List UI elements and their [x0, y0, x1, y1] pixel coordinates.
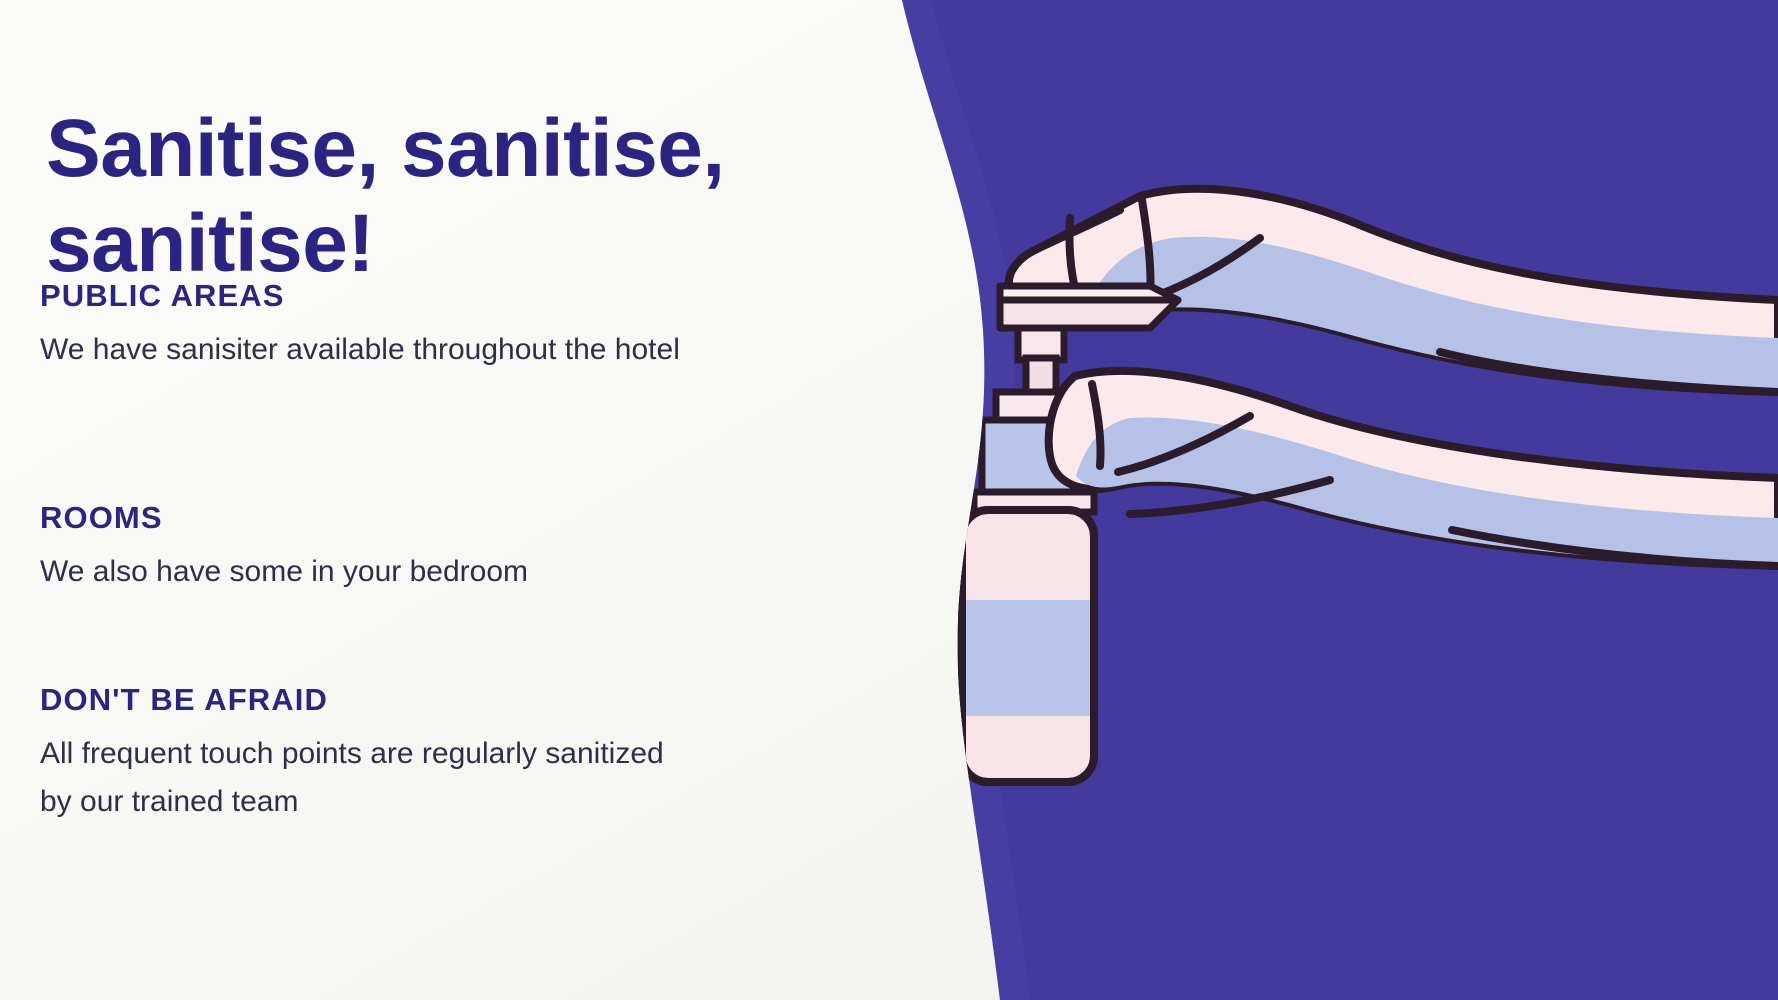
- section-title-rooms: ROOMS: [40, 500, 740, 536]
- purple-curved-panel: [902, 0, 1778, 1000]
- section-body-public-areas: We have sanisiter available throughout t…: [40, 326, 700, 374]
- section-rooms: ROOMS We also have some in your bedroom: [40, 500, 740, 596]
- text-column: Sanitise, sanitise, sanitise! PUBLIC ARE…: [0, 0, 900, 1000]
- section-body-dont-be-afraid: All frequent touch points are regularly …: [40, 730, 700, 826]
- section-dont-be-afraid: DON'T BE AFRAID All frequent touch point…: [40, 682, 740, 826]
- bottle-body: [962, 510, 1094, 782]
- section-public-areas: PUBLIC AREAS We have sanisiter available…: [40, 278, 740, 374]
- pump-collar: [974, 392, 1094, 512]
- pump-lever: [1000, 286, 1178, 328]
- upper-hand: [1009, 189, 1778, 392]
- section-title-public-areas: PUBLIC AREAS: [40, 278, 740, 314]
- section-title-dont-be-afraid: DON'T BE AFRAID: [40, 682, 740, 718]
- slide-root: Sanitise, sanitise, sanitise! PUBLIC ARE…: [0, 0, 1778, 1000]
- pump-neck: [1018, 328, 1064, 394]
- lower-hand: [1049, 371, 1778, 566]
- section-body-rooms: We also have some in your bedroom: [40, 548, 700, 596]
- page-title: Sanitise, sanitise, sanitise!: [46, 101, 866, 291]
